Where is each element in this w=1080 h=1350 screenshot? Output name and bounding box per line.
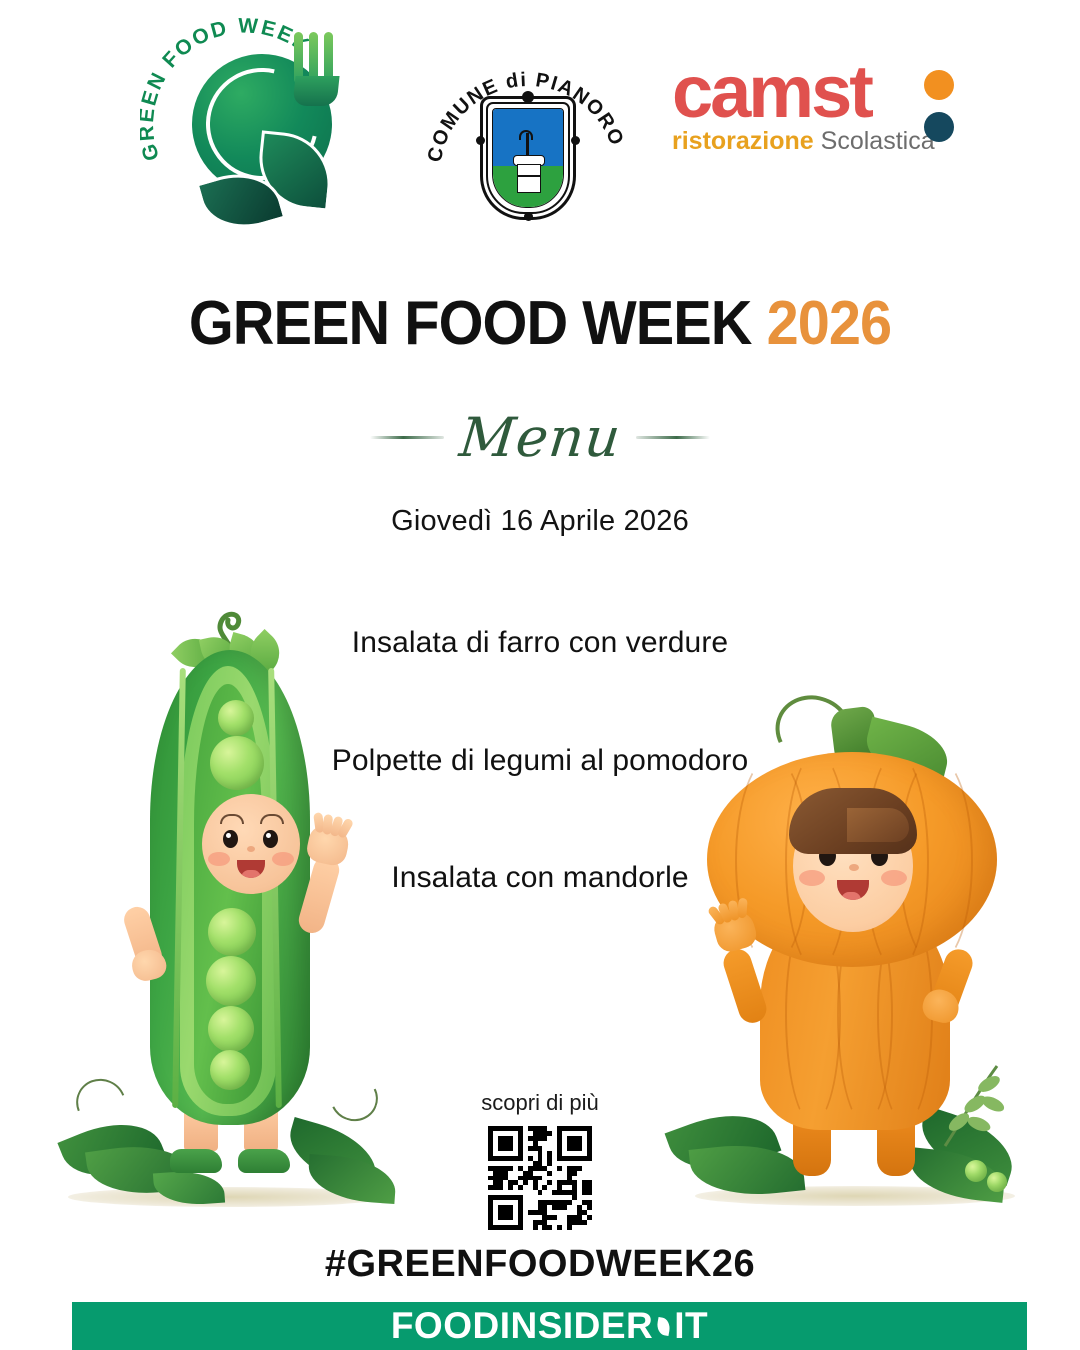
poster-canvas: GREEN FOOD WEEK COMUNE di PIANORO (0, 0, 1080, 1350)
menu-dash-left-icon (370, 436, 444, 439)
menu-content: Giovedì 16 Aprile 2026 Insalata di farro… (320, 505, 760, 898)
shoe-icon (170, 1149, 222, 1173)
menu-dash-right-icon (636, 436, 710, 439)
qr-code[interactable] (488, 1126, 592, 1230)
well-icon (513, 155, 545, 193)
pea-icon (208, 908, 256, 956)
camst-scolastica-label: Scolastica (821, 127, 935, 155)
camst-colon-dots-icon (924, 70, 958, 146)
shoe-icon (238, 1149, 290, 1173)
pea-icon (208, 1006, 254, 1052)
pea-icon (965, 1160, 987, 1182)
camst-wordmark: camst (672, 58, 962, 126)
footer-banner-text: FOODINSIDER IT (391, 1305, 708, 1347)
shield-field-icon (492, 108, 564, 208)
camst-ristorazione-label: ristorazione (672, 127, 814, 155)
menu-dish-3: Insalata con mandorle (320, 858, 760, 898)
pea-icon (218, 700, 254, 736)
title-main: GREEN FOOD WEEK (189, 289, 752, 358)
pea-face-icon (202, 794, 300, 894)
qr-section: scopri di più (440, 1090, 640, 1230)
leaf-dot-icon (656, 1317, 672, 1336)
pea-icon (987, 1172, 1007, 1192)
pea-icon (206, 956, 256, 1006)
menu-date: Giovedì 16 Aprile 2026 (320, 505, 760, 538)
menu-dish-2: Polpette di legumi al pomodoro (320, 741, 760, 781)
footer-tld: IT (674, 1305, 708, 1347)
title-year: 2026 (767, 289, 892, 358)
green-food-week-logo: GREEN FOOD WEEK (140, 14, 360, 229)
page-title: GREEN FOOD WEEK 2026 (38, 288, 1042, 359)
qr-label: scopri di più (440, 1090, 640, 1116)
tendril-icon (324, 1068, 385, 1128)
camst-subtitle: ristorazione Scolastica (672, 129, 962, 154)
menu-heading: Menu (0, 406, 1080, 469)
hashtag-label: #GREENFOODWEEK26 (0, 1243, 1080, 1286)
comune-di-pianoro-crest: COMUNE di PIANORO (428, 56, 628, 234)
pea-icon (210, 736, 264, 790)
logo-row: GREEN FOOD WEEK COMUNE di PIANORO (0, 0, 1080, 245)
camst-logo: camst ristorazione Scolastica (672, 58, 962, 168)
footer-banner: FOODINSIDER IT (72, 1302, 1027, 1350)
hair-icon (789, 788, 917, 854)
footer-brand-name: FOODINSIDER (391, 1305, 653, 1347)
pea-icon (210, 1050, 250, 1090)
menu-heading-label: Menu (456, 406, 623, 469)
fork-icon (290, 32, 348, 124)
menu-dish-1: Insalata di farro con verdure (320, 623, 760, 663)
shield-icon (480, 96, 576, 220)
